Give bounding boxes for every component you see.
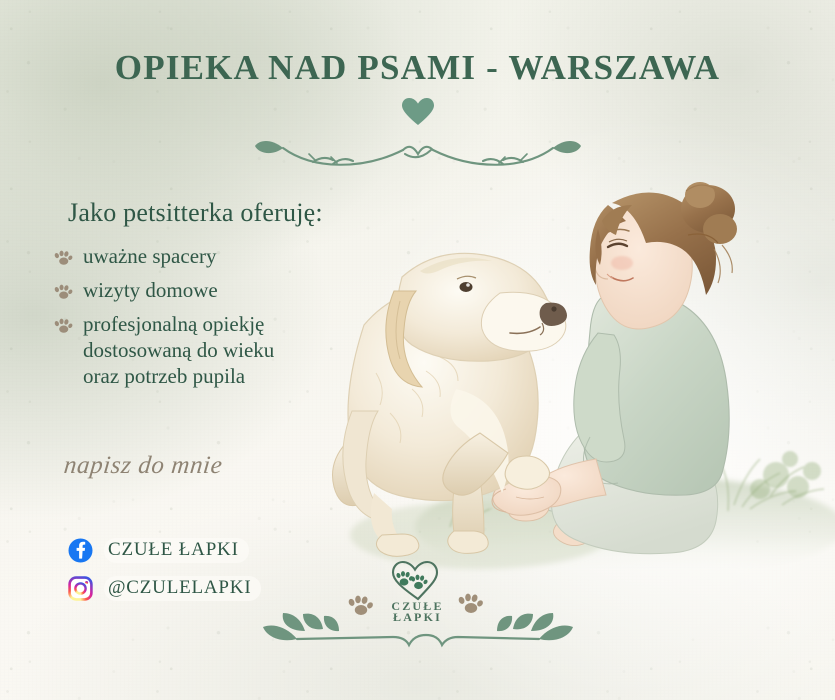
facebook-handle: CZUŁE ŁAPKI <box>104 538 249 563</box>
heart-with-paws-logo-icon <box>387 558 449 602</box>
facebook-icon[interactable] <box>68 538 93 563</box>
offer-list-item: uważne spacery <box>52 243 274 269</box>
social-link-instagram[interactable]: @CZULELAPKI <box>68 576 261 601</box>
offer-list-item: wizyty domowe <box>52 277 274 303</box>
paw-print-icon <box>52 316 74 335</box>
social-links: CZUŁE ŁAPKI @CZULELAPKI <box>68 538 261 614</box>
offer-list-item: profesjonalną opiekję dostosowaną do wie… <box>52 311 274 389</box>
poster-canvas: OPIEKA NAD PSAMI - WARSZAWA Jako petsitt… <box>0 0 835 700</box>
paw-print-icon <box>52 248 74 267</box>
page-title: OPIEKA NAD PSAMI - WARSZAWA <box>0 48 835 88</box>
leaf-flourish-divider-bottom-icon <box>253 613 583 655</box>
offer-list: uważne spacerywizyty domoweprofesjonalną… <box>52 243 274 397</box>
offer-item-label: profesjonalną opiekję dostosowaną do wie… <box>83 311 274 389</box>
instagram-handle: @CZULELAPKI <box>104 576 261 601</box>
offer-item-label: wizyty domowe <box>83 277 218 303</box>
offer-item-label: uważne spacery <box>83 243 217 269</box>
paw-print-icon <box>410 575 428 590</box>
instagram-icon[interactable] <box>68 576 93 601</box>
contact-cta-text: napisz do mnie <box>63 452 224 480</box>
leaf-flourish-divider-top-icon <box>253 130 583 174</box>
paw-print-icon <box>52 282 74 301</box>
heart-icon <box>401 97 435 127</box>
social-link-facebook[interactable]: CZUŁE ŁAPKI <box>68 538 261 563</box>
woman-with-golden-retriever-illustration <box>330 175 835 595</box>
offer-heading: Jako petsitterka oferuję: <box>68 198 323 228</box>
